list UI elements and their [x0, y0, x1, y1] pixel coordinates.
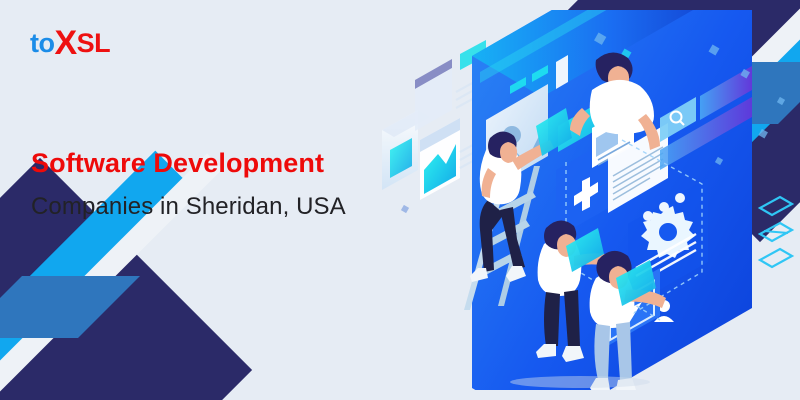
logo-text-x: X [54, 24, 76, 62]
corner-decoration-bottom-left-midblue [0, 276, 140, 338]
page-subtitle: Companies in Sheridan, USA [31, 193, 346, 222]
headline-block: Software Development Companies in Sherid… [31, 148, 346, 222]
brand-logo[interactable]: toXSL [30, 26, 110, 60]
page-title: Software Development [31, 148, 346, 179]
ground-shadow [510, 376, 650, 388]
checkbox-list[interactable] [760, 197, 792, 267]
hero-illustration [360, 10, 800, 390]
logo-text-to: to [30, 28, 54, 58]
logo-text-sl: SL [77, 28, 111, 58]
marketing-banner: toXSL Software Development Companies in … [0, 0, 800, 400]
